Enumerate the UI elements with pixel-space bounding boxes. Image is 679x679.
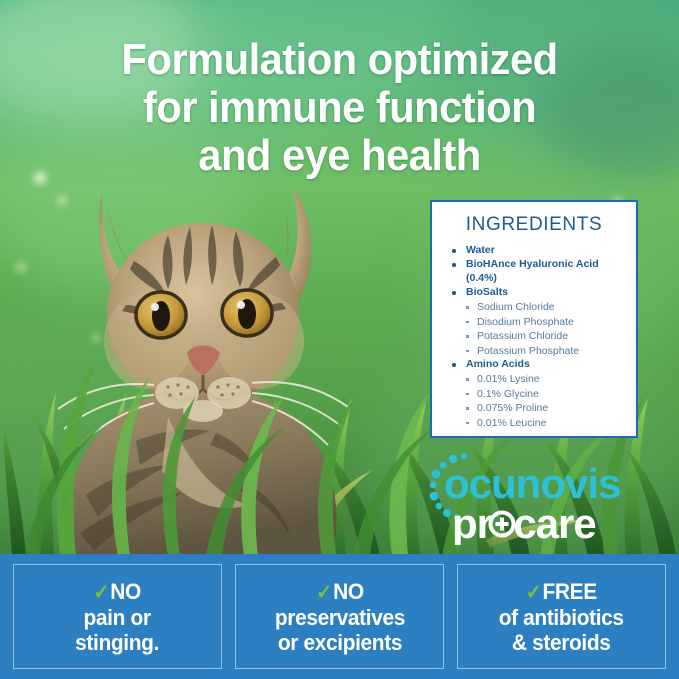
brand-logo: ocunovis pr care — [428, 450, 643, 545]
ingredient-item: BioHAnce Hyaluronic Acid — [440, 258, 628, 271]
check-icon: ✓ — [94, 581, 110, 604]
headline: Formulation optimized for immune functio… — [17, 36, 662, 180]
ingredient-item-continuation: (0.4%) — [440, 272, 628, 285]
logo-product-text: pr care — [452, 500, 596, 545]
feature-box-no-pain[interactable]: ✓NO pain or stinging. — [13, 564, 222, 669]
ingredient-subitem: Potassium Phosphate — [440, 344, 628, 359]
ingredient-item: Amino Acids — [440, 358, 628, 371]
ingredient-subitem: 0.075% Proline — [440, 401, 628, 416]
product-poster: Formulation optimized for immune functio… — [0, 0, 679, 679]
feature-line-1: NO — [111, 579, 142, 604]
feature-line-3: stinging. — [76, 630, 160, 655]
feature-line-2: of antibiotics — [499, 605, 624, 630]
feature-line-2: preservatives — [274, 605, 404, 630]
headline-line-2: for immune function — [17, 84, 662, 132]
feature-box-no-preservatives[interactable]: ✓NO preservatives or excipients — [235, 564, 444, 669]
headline-line-3: and eye health — [17, 132, 662, 180]
feature-boxes: ✓NO pain or stinging. ✓NO preservatives … — [0, 554, 679, 679]
ingredients-title: INGREDIENTS — [440, 214, 628, 236]
feature-line-3: & steroids — [499, 630, 624, 655]
feature-line-3: or excipients — [274, 630, 404, 655]
feature-band: ✓NO pain or stinging. ✓NO preservatives … — [0, 554, 679, 679]
feature-line-2: pain or — [76, 605, 160, 630]
ingredient-item: BioSalts — [440, 286, 628, 299]
ingredient-subitem: Potassium Chloride — [440, 329, 628, 344]
check-icon: ✓ — [526, 581, 542, 604]
ingredient-subitem: Disodium Phosphate — [440, 315, 628, 330]
ingredients-card: INGREDIENTS Water BioHAnce Hyaluronic Ac… — [430, 200, 638, 438]
headline-line-1: Formulation optimized — [17, 36, 662, 84]
ingredient-subitem: 0.01% Leucine — [440, 416, 628, 431]
ingredient-subitem: 0.1% Glycine — [440, 387, 628, 402]
ingredient-item: Water — [440, 244, 628, 257]
feature-box-free-of-antibiotics[interactable]: ✓FREE of antibiotics & steroids — [457, 564, 666, 669]
ingredient-subitem: Sodium Chloride — [440, 300, 628, 315]
check-icon: ✓ — [316, 581, 332, 604]
ingredients-list: Water BioHAnce Hyaluronic Acid (0.4%) Bi… — [440, 244, 628, 430]
feature-line-1: FREE — [543, 579, 597, 604]
ingredient-subitem: 0.01% Lysine — [440, 372, 628, 387]
feature-line-1: NO — [333, 579, 364, 604]
